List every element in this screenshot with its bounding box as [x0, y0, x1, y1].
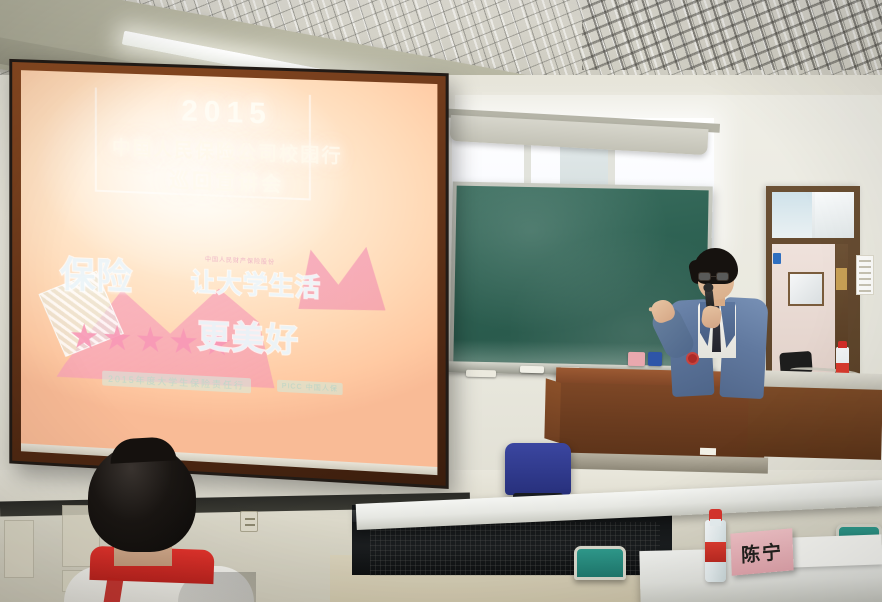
green-chair[interactable]	[574, 546, 626, 580]
logo-ribbon-right-text: PICC 中国人保	[277, 379, 343, 395]
white-chalk	[520, 366, 544, 374]
door-hinge	[836, 268, 847, 290]
lapel-badge	[686, 352, 699, 365]
wall-patch	[4, 520, 34, 578]
transom-pane	[772, 192, 812, 238]
projection-screen: 2015 中国人民保险公司校园行 巡回宣讲会 保险 让大学生活 更美好 中国人民…	[9, 59, 448, 489]
blue-chalk-box	[648, 352, 662, 366]
logo-headline-part-2: 让大学生活	[191, 262, 321, 304]
bottle-neck	[710, 519, 721, 526]
projected-slide: 2015 中国人民保险公司校园行 巡回宣讲会 保险 让大学生活 更美好 中国人民…	[21, 70, 437, 475]
lectern-label-tag	[700, 448, 716, 455]
foreground-student	[58, 444, 258, 602]
door-transom-window	[772, 192, 854, 238]
eyeglasses-icon	[698, 272, 732, 281]
bottle-label	[705, 542, 726, 562]
transom-pane	[815, 192, 855, 238]
speaker	[664, 248, 768, 408]
blue-chair[interactable]	[505, 443, 571, 495]
star-icon	[103, 324, 131, 353]
door-blue-sign	[773, 253, 781, 264]
paper-sheet	[790, 534, 882, 567]
white-eraser	[466, 370, 496, 378]
slide-title-line-2: 巡回宣讲会	[169, 164, 284, 198]
door-vision-panel	[788, 272, 824, 306]
name-card-text: 陈宁	[741, 537, 784, 568]
water-bottle	[705, 520, 726, 582]
name-card: 陈宁	[730, 528, 793, 575]
slide-year: 2015	[181, 95, 272, 132]
star-icon	[136, 326, 164, 355]
lecture-hall-photo: 2015 中国人民保险公司校园行 巡回宣讲会 保险 让大学生活 更美好 中国人民…	[0, 0, 882, 602]
star-icon	[170, 327, 198, 356]
logo-headline-part-3: 更美好	[198, 310, 300, 361]
wall-notice-sign	[856, 255, 874, 295]
star-icon	[70, 322, 97, 351]
pink-eraser	[628, 352, 645, 366]
slide-logo-block: 保险 让大学生活 更美好 中国人民财产保险股份 2015年度大学生保险责任行 P…	[49, 239, 407, 411]
ceiling-open-grid-section	[582, 0, 882, 70]
logo-headline-part-1: 保险	[60, 246, 133, 301]
